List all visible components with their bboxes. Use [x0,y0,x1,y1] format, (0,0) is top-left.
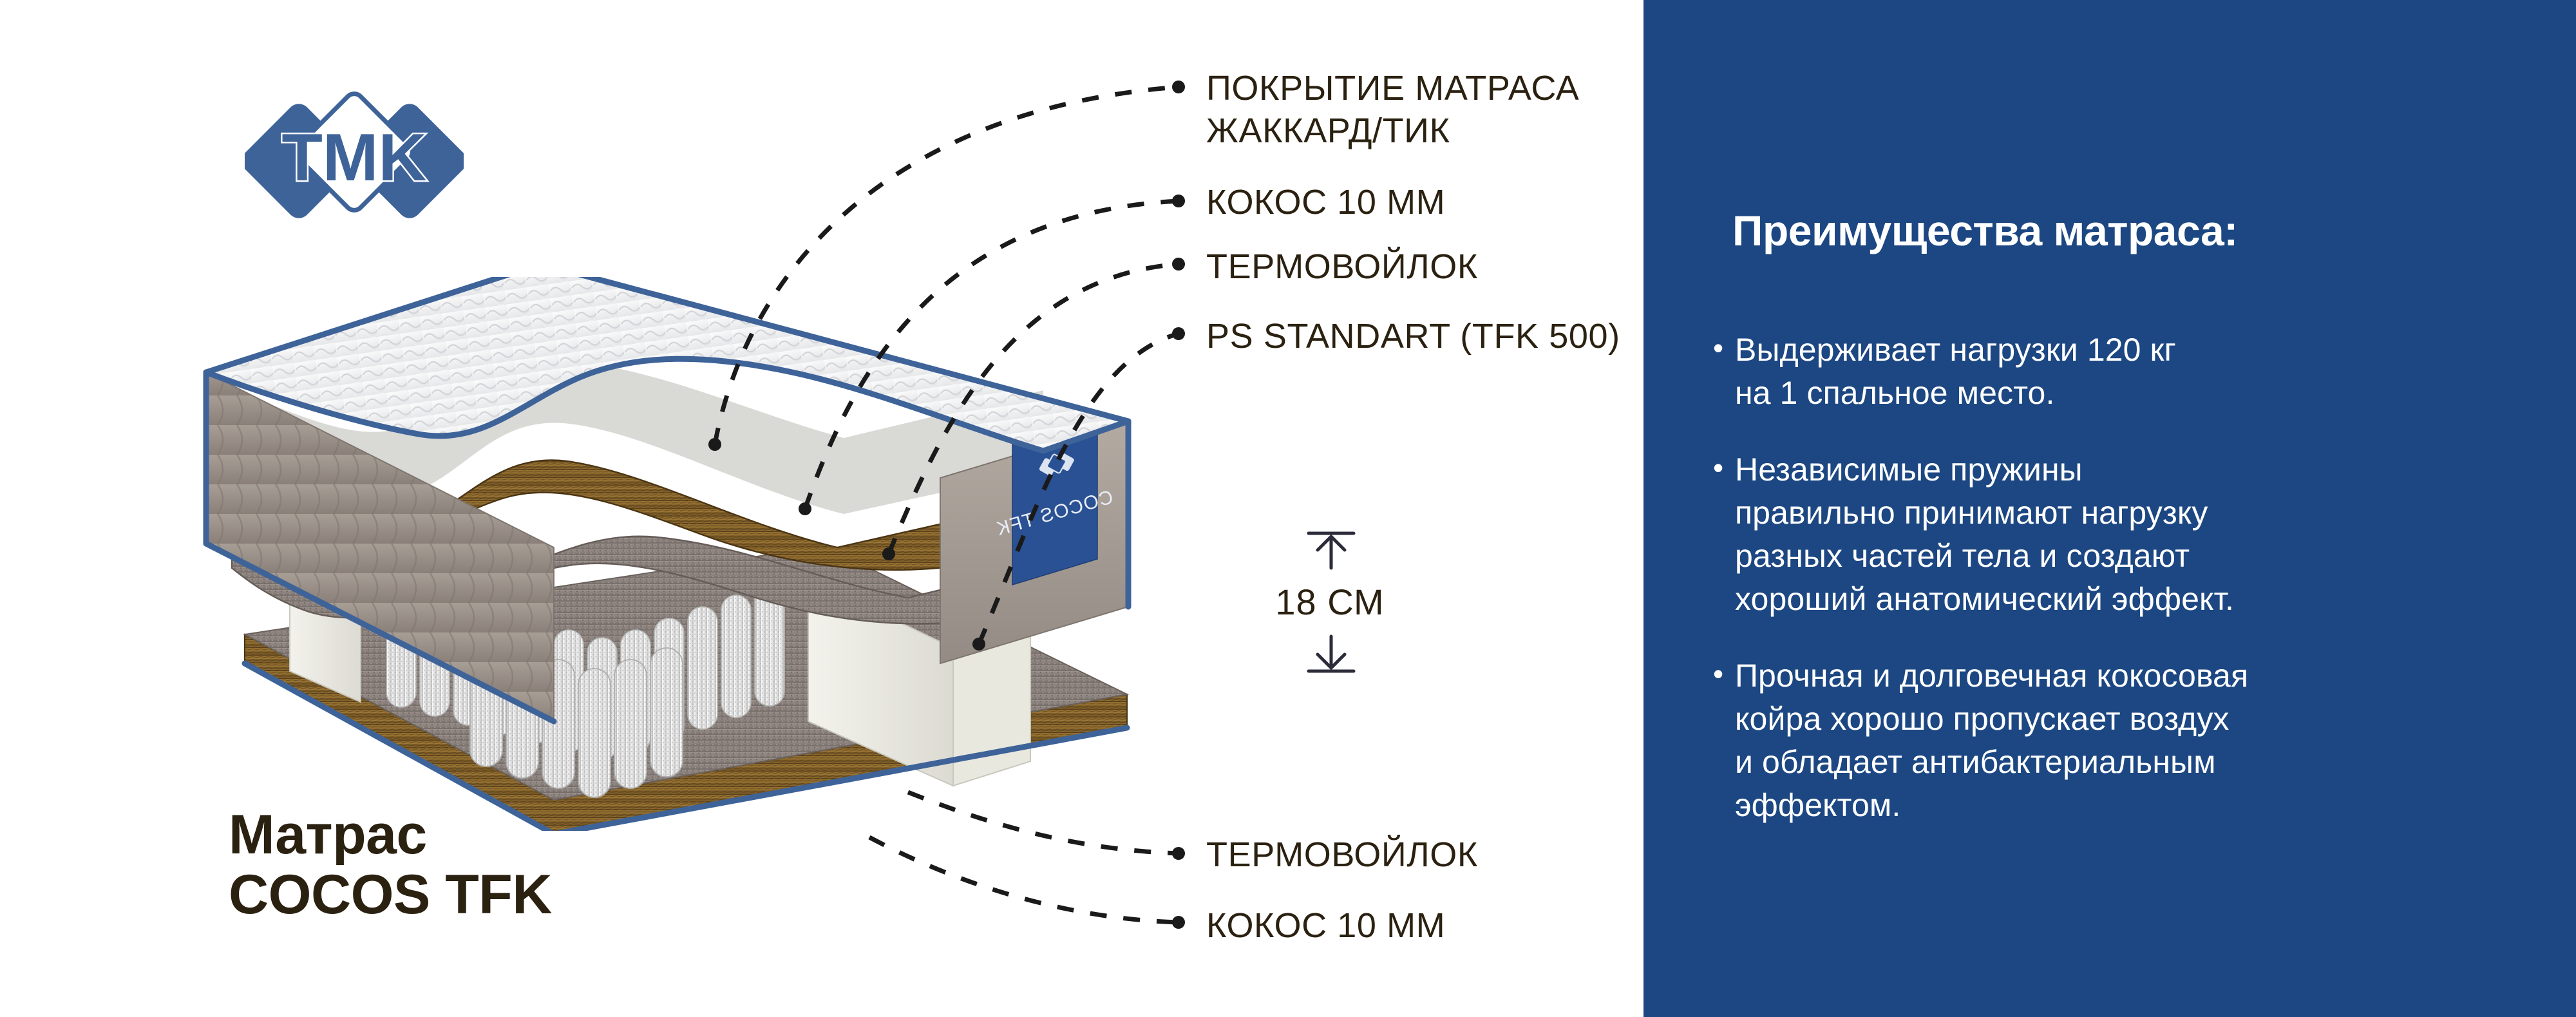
arrow-up-icon [1318,537,1345,568]
leader-coir-bottom [869,837,1179,922]
advantages-title: Преимущества матраса: [1732,206,2505,255]
advantage-text-1: Выдерживает нагрузки 120 кг на 1 спально… [1735,328,2176,415]
page-title: Матрас COCOS TFK [229,805,552,925]
mattress-cutaway-illustration: COCOS TFK [193,277,1198,831]
callout-label-felt-top: ТЕРМОВОЙЛОК [1206,246,1478,289]
height-indicator: 18 СМ [1256,528,1404,676]
product-title-line1: Матрас [229,804,427,866]
tmk-logo: TMK [245,77,464,245]
arrow-down-icon [1318,636,1345,668]
bullet-marker-icon: • [1713,654,1735,694]
product-title-line2: COCOS TFK [229,865,552,925]
callout-label-felt-bottom: ТЕРМОВОЙЛОК [1206,834,1478,877]
callout-label-coir-bottom: КОКОС 10 ММ [1206,905,1445,947]
bullet-marker-icon: • [1713,448,1735,488]
callout-label-coir-top: КОКОС 10 ММ [1206,182,1445,224]
bullet-marker-icon: • [1713,328,1735,368]
callout-label-springs: PS STANDART (TFK 500) [1206,316,1620,358]
product-infographic: TMK [0,0,2576,1017]
advantages-list: • Выдерживает нагрузки 120 кг на 1 спаль… [1713,328,2505,860]
advantage-text-2: Независимые пружины правильно принимают … [1735,448,2234,621]
list-item: • Независимые пружины правильно принимаю… [1713,448,2505,621]
list-item: • Прочная и долговечная кокосовая койра … [1713,654,2505,827]
callout-label-cover: ПОКРЫТИЕ МАТРАСА ЖАККАРД/ТИК [1206,68,1579,153]
height-value: 18 СМ [1256,581,1404,623]
tmk-wordmark: TMK [281,120,426,195]
advantage-text-3: Прочная и долговечная кокосовая койра хо… [1735,654,2248,827]
list-item: • Выдерживает нагрузки 120 кг на 1 спаль… [1713,328,2505,415]
